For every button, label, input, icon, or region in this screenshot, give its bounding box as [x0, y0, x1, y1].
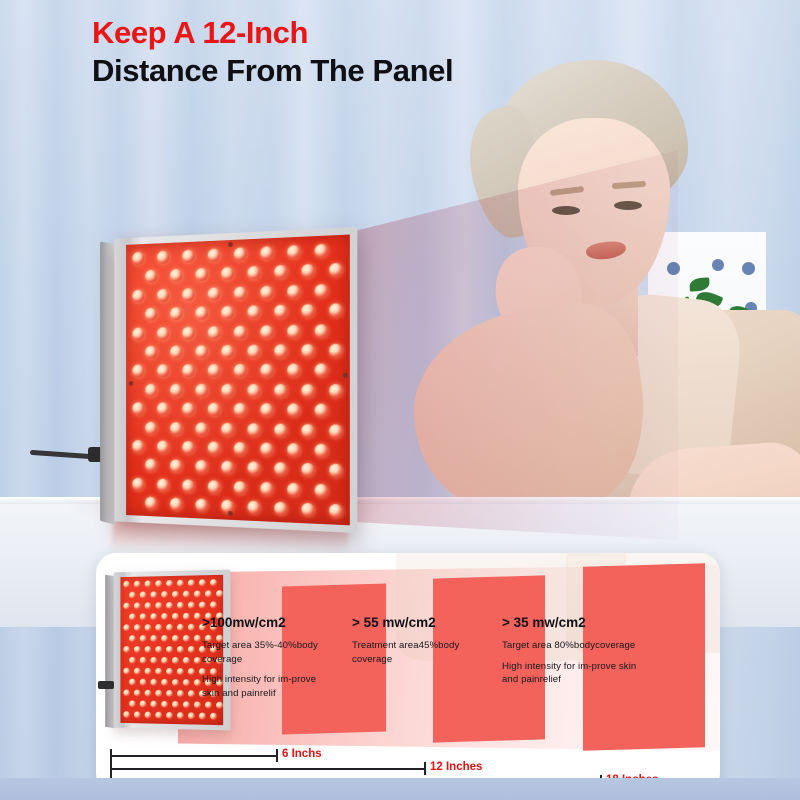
led-bulb — [129, 679, 136, 686]
led-bulb — [170, 460, 182, 473]
led-bulb — [161, 679, 168, 686]
led-bulb — [177, 602, 184, 609]
led-bulb — [196, 307, 208, 320]
headline-line-2: Distance From The Panel — [92, 52, 712, 90]
led-bulb — [145, 459, 157, 472]
led-bulb — [204, 590, 211, 597]
led-bulb — [157, 403, 169, 416]
led-bulb — [208, 287, 220, 300]
led-bulb — [155, 646, 162, 653]
led-bulb — [287, 364, 300, 377]
led-bulb — [171, 679, 178, 686]
intensity-line: Treatment area45%body — [352, 639, 502, 653]
led-bulb — [260, 364, 273, 377]
led-bulb — [216, 702, 223, 709]
intensity-title-3: > 35 mw/cm2 — [502, 615, 692, 630]
led-bulb — [129, 613, 136, 620]
led-bulb — [123, 603, 130, 610]
led-bulb — [166, 690, 173, 697]
led-bulb — [161, 591, 168, 598]
led-bulb — [329, 384, 342, 397]
led-bulb — [157, 251, 169, 264]
led-bulb — [188, 646, 195, 653]
led-bulb — [301, 503, 314, 517]
led-bulb — [139, 701, 146, 708]
led-bulb — [171, 591, 178, 598]
led-bulb — [188, 712, 195, 719]
intensity-line: High intensity for im-prove — [202, 673, 352, 687]
headline: Keep A 12-Inch Distance From The Panel — [92, 14, 712, 90]
led-bulb — [132, 289, 144, 302]
led-bulb — [221, 306, 234, 319]
led-bulb — [196, 422, 208, 435]
led-bulb — [132, 402, 144, 415]
led-bulb — [182, 365, 194, 378]
led-panel-device — [114, 227, 357, 533]
led-bulb — [150, 701, 157, 708]
led-bulb — [221, 422, 234, 435]
led-bulb — [196, 499, 208, 512]
led-bulb — [177, 690, 184, 697]
led-bulb — [177, 580, 184, 587]
led-bulb — [182, 479, 194, 492]
led-bulb — [193, 635, 200, 642]
led-bulb — [193, 590, 200, 597]
led-bulb — [315, 324, 328, 338]
led-bulb — [274, 463, 287, 477]
led-bulb — [248, 345, 261, 358]
led-bulb — [132, 365, 144, 378]
led-bulb — [134, 581, 141, 588]
led-bulb — [315, 244, 328, 258]
led-bulb — [188, 602, 195, 609]
led-bulb — [301, 463, 314, 477]
led-bulb — [145, 346, 157, 359]
led-bulb — [171, 701, 178, 708]
led-bulb — [234, 364, 247, 377]
bottom-strip — [0, 778, 800, 800]
led-bulb — [248, 501, 261, 515]
led-bulb — [139, 591, 146, 598]
headline-line-1: Keep A 12-Inch — [92, 14, 712, 52]
intensity-infographic-card: >100mw/cm2 Target area 35%-40%body cover… — [96, 553, 720, 793]
led-bulb — [134, 602, 141, 609]
led-bulb — [134, 668, 141, 675]
led-bulb — [150, 591, 157, 598]
led-bulb — [145, 384, 157, 397]
led-bulb — [315, 404, 328, 418]
led-bulb — [139, 635, 146, 642]
led-bulb — [208, 442, 220, 455]
led-bulb — [234, 247, 247, 261]
led-bulb — [182, 591, 189, 598]
led-bulb — [248, 384, 261, 397]
led-bulb — [301, 384, 314, 397]
led-bulb — [260, 246, 273, 260]
led-bulb — [260, 286, 273, 300]
led-bulb — [129, 635, 136, 642]
led-bulb — [287, 324, 300, 337]
intensity-label-1: >100mw/cm2 Target area 35%-40%body cover… — [202, 615, 352, 700]
led-bulb — [287, 285, 300, 299]
led-bulb — [182, 441, 194, 454]
led-bulb — [123, 646, 130, 653]
led-bulb — [171, 613, 178, 620]
led-bulb — [248, 423, 261, 436]
led-bulb — [301, 424, 314, 438]
led-bulb — [145, 580, 152, 587]
mini-power-cord — [98, 681, 114, 689]
led-bulb — [260, 325, 273, 338]
led-bulb — [129, 657, 136, 664]
power-cord — [30, 447, 108, 462]
led-bulb — [196, 384, 208, 397]
led-bulb — [123, 668, 130, 675]
led-bulb — [274, 344, 287, 357]
led-bulb — [216, 590, 223, 597]
led-bulb — [329, 263, 342, 277]
led-bulb — [182, 635, 189, 642]
led-bulb — [170, 422, 182, 435]
led-bulb — [145, 308, 157, 321]
led-bulb — [329, 504, 342, 518]
led-bulb — [301, 344, 314, 357]
led-bulb — [287, 483, 300, 497]
led-bulb — [221, 384, 234, 397]
intensity-title-2: > 55 mw/cm2 — [352, 615, 502, 630]
led-bulb — [188, 579, 195, 586]
led-bulb — [248, 305, 261, 318]
led-bulb — [134, 646, 141, 653]
product-infographic-stage: Keep A 12-Inch Distance From The Panel >… — [0, 0, 800, 800]
led-bulb — [329, 344, 342, 358]
led-bulb — [166, 646, 173, 653]
led-bulb — [208, 480, 220, 493]
led-bulb — [132, 327, 144, 340]
led-bulb — [274, 384, 287, 397]
led-bulb — [177, 646, 184, 653]
led-bulb — [145, 668, 152, 675]
led-bulb — [132, 252, 144, 265]
intensity-title-1: >100mw/cm2 — [202, 615, 352, 630]
led-bulb — [221, 267, 234, 280]
intensity-line: High intensity for im-prove skin — [502, 660, 692, 674]
led-bulb — [171, 657, 178, 664]
led-bulb — [161, 613, 168, 620]
ruler-label-6in: 6 Inchs — [282, 748, 322, 760]
led-bulb — [145, 421, 157, 434]
intensity-line: Target area 80%bodycoverage — [502, 639, 692, 653]
led-bulb — [208, 403, 220, 416]
intensity-line: coverage — [202, 653, 352, 667]
led-bulb — [260, 443, 273, 456]
led-bulb — [155, 712, 162, 719]
led-bulb — [182, 613, 189, 620]
ruler-label-12in: 12 Inches — [430, 761, 482, 773]
led-bulb — [155, 668, 162, 675]
led-bulb — [157, 440, 169, 453]
led-bulb — [315, 364, 328, 377]
panel-led-face — [126, 235, 350, 526]
led-bulb — [208, 248, 220, 261]
led-bulb — [199, 579, 206, 586]
led-bulb — [199, 713, 206, 720]
led-bulb — [170, 269, 182, 282]
led-bulb — [188, 668, 195, 675]
led-bulb — [166, 668, 173, 675]
led-bulb — [166, 624, 173, 631]
led-bulb — [196, 345, 208, 358]
led-bulb — [329, 424, 342, 438]
led-bulb — [123, 711, 130, 718]
led-bulb — [157, 365, 169, 378]
led-bulb — [210, 713, 217, 720]
led-bulb — [157, 289, 169, 302]
led-bulb — [188, 690, 195, 697]
led-bulb — [150, 657, 157, 664]
led-bulb — [234, 325, 247, 338]
led-bulb — [193, 701, 200, 708]
led-bulb — [170, 498, 182, 511]
led-bulb — [182, 657, 189, 664]
led-bulb — [210, 601, 217, 608]
intensity-line: Target area 35%-40%body — [202, 639, 352, 653]
led-bulb — [301, 264, 314, 278]
led-bulb — [329, 464, 342, 478]
led-bulb — [161, 657, 168, 664]
woman-portrait — [400, 60, 800, 540]
led-bulb — [170, 346, 182, 359]
led-bulb — [182, 326, 194, 339]
led-bulb — [234, 286, 247, 299]
led-bulb — [129, 700, 136, 707]
led-bulb — [182, 288, 194, 301]
led-bulb — [155, 690, 162, 697]
led-bulb — [234, 442, 247, 455]
led-bulb — [193, 679, 200, 686]
led-bulb — [139, 657, 146, 664]
led-bulb — [234, 403, 247, 416]
led-bulb — [204, 702, 211, 709]
led-bulb — [188, 624, 195, 631]
led-bulb — [208, 364, 220, 377]
led-bulb — [145, 602, 152, 609]
led-bulb — [196, 268, 208, 281]
led-bulb — [155, 624, 162, 631]
intensity-line: coverage — [352, 653, 502, 667]
led-bulb — [155, 602, 162, 609]
led-bulb — [139, 679, 146, 686]
led-bulb — [145, 270, 157, 283]
led-bulb — [145, 712, 152, 719]
led-bulb — [129, 592, 136, 599]
led-bulb — [161, 701, 168, 708]
led-bulb — [301, 304, 314, 318]
led-bulb — [134, 711, 141, 718]
led-bulb — [177, 624, 184, 631]
led-bulb — [123, 689, 130, 696]
led-bulb — [199, 601, 206, 608]
led-bulb — [161, 635, 168, 642]
led-bulb — [145, 624, 152, 631]
led-bulb — [139, 613, 146, 620]
led-bulb — [287, 443, 300, 457]
led-bulb — [248, 462, 261, 475]
led-bulb — [166, 580, 173, 587]
led-bulb — [234, 481, 247, 494]
led-bulb — [193, 613, 200, 620]
led-bulb — [182, 701, 189, 708]
led-bulb — [171, 635, 178, 642]
led-bulb — [287, 245, 300, 259]
led-bulb — [166, 712, 173, 719]
led-bulb — [182, 403, 194, 416]
led-bulb — [182, 250, 194, 263]
led-bulb — [134, 690, 141, 697]
led-bulb — [123, 581, 130, 588]
led-bulb — [170, 307, 182, 320]
led-bulb — [315, 444, 328, 458]
led-bulb — [155, 580, 162, 587]
intensity-line: skin and painrelif — [202, 687, 352, 701]
led-bulb — [132, 440, 144, 453]
led-bulb — [134, 624, 141, 631]
led-bulb — [274, 423, 287, 436]
led-bulb — [260, 482, 273, 496]
intensity-line: and painrelief — [502, 673, 692, 687]
led-bulb — [150, 635, 157, 642]
intensity-label-3: > 35 mw/cm2 Target area 80%bodycoverage … — [502, 615, 692, 687]
led-bulb — [274, 305, 287, 319]
led-bulb — [145, 646, 152, 653]
led-bulb — [150, 679, 157, 686]
led-bulb — [315, 484, 328, 498]
led-bulb — [177, 668, 184, 675]
led-bulb — [182, 679, 189, 686]
led-bulb — [274, 265, 287, 279]
led-bulb — [145, 497, 157, 510]
led-bulb — [177, 712, 184, 719]
led-bulb — [274, 502, 287, 516]
led-bulb — [287, 404, 300, 417]
led-bulb — [170, 384, 182, 397]
led-bulb — [166, 602, 173, 609]
led-bulb — [132, 478, 144, 491]
led-bulb — [221, 461, 234, 474]
led-bulb — [193, 657, 200, 664]
led-bulb — [248, 266, 261, 280]
led-bulb — [145, 690, 152, 697]
led-bulb — [123, 624, 130, 631]
led-bulb — [329, 303, 342, 317]
led-bulb — [157, 327, 169, 340]
led-bulb — [196, 460, 208, 473]
intensity-label-2: > 55 mw/cm2 Treatment area45%body covera… — [352, 615, 502, 666]
led-bulb — [210, 579, 217, 586]
led-bulb — [221, 345, 234, 358]
led-bulb — [157, 478, 169, 491]
led-bulb — [315, 284, 328, 298]
led-bulb — [150, 613, 157, 620]
led-bulb — [208, 326, 220, 339]
led-bulb — [260, 403, 273, 416]
